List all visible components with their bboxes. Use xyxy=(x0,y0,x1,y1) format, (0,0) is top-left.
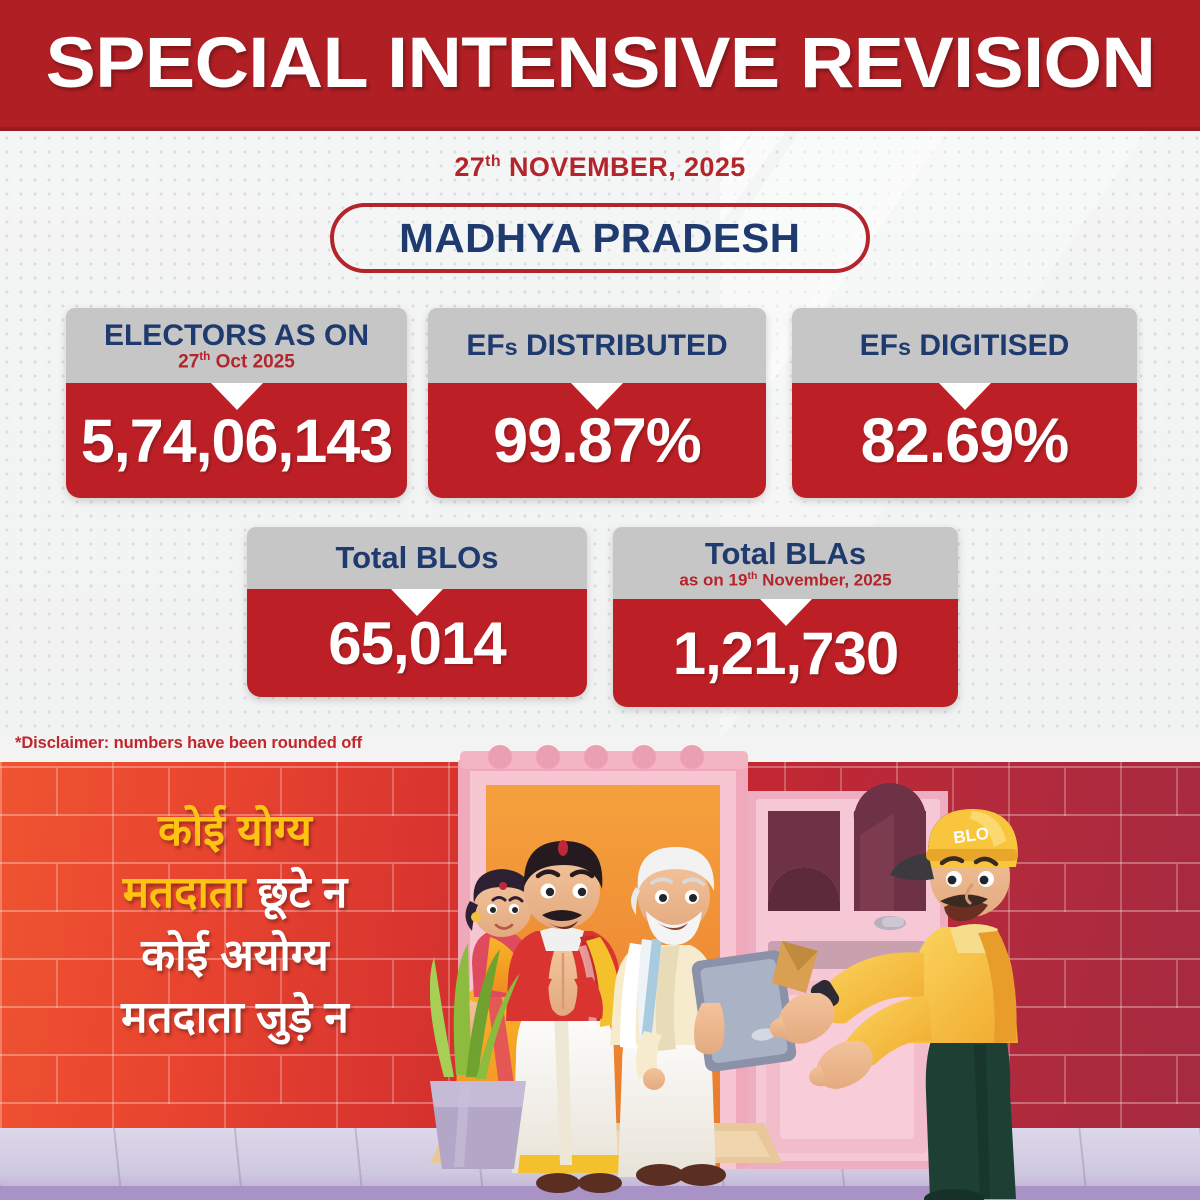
stat-card-efs-digitised-header: EFs DIGITISED xyxy=(792,308,1137,383)
slogan-line-2: मतदाता छूटे न xyxy=(0,862,470,924)
efs-digitised-rest: DIGITISED xyxy=(911,329,1069,362)
report-date-ordinal: th xyxy=(485,153,501,170)
stat-card-electors-header: ELECTORS AS ON 27th Oct 2025 xyxy=(66,308,407,383)
stat-card-efs-distributed: EFs DISTRIBUTED 99.87% xyxy=(428,308,766,498)
header-banner: SPECIAL INTENSIVE REVISION xyxy=(0,0,1200,131)
slogan-line-1: कोई योग्य xyxy=(0,800,470,862)
blas-subtitle-prefix: as on 19 xyxy=(679,570,747,589)
efs-distributed-rest: DISTRIBUTED xyxy=(518,329,728,362)
electors-subtitle-ordinal: th xyxy=(199,350,210,363)
blo-household-illustration: BLO xyxy=(430,745,1200,1200)
stat-card-total-blos: Total BLOs 65,014 xyxy=(247,527,587,697)
stat-card-electors-value: 5,74,06,143 xyxy=(81,406,392,476)
stat-card-electors-body: 5,74,06,143 xyxy=(66,383,407,498)
disclaimer-text: *Disclaimer: numbers have been rounded o… xyxy=(15,734,362,753)
report-date-day: 27 xyxy=(454,152,485,182)
stat-card-efs-digitised-title: EFs DIGITISED xyxy=(860,330,1070,362)
stat-card-total-blas-body: 1,21,730 xyxy=(613,599,958,707)
slogan-line-2-white: छूटे न xyxy=(258,868,348,917)
slogan-line-3: कोई अयोग्य xyxy=(0,925,470,987)
efs-distributed-s: s xyxy=(505,334,518,360)
stat-card-efs-digitised: EFs DIGITISED 82.69% xyxy=(792,308,1137,498)
electors-subtitle-day: 27 xyxy=(178,351,199,372)
report-date-month-year: NOVEMBER, 2025 xyxy=(501,152,746,182)
efs-distributed-lead: EF xyxy=(466,329,504,362)
state-badge: MADHYA PRADESH xyxy=(330,203,870,273)
stat-card-total-blos-body: 65,014 xyxy=(247,589,587,697)
stat-card-efs-distributed-title: EFs DISTRIBUTED xyxy=(466,330,727,362)
stat-card-efs-distributed-body: 99.87% xyxy=(428,383,766,498)
stat-card-total-blas-subtitle: as on 19th November, 2025 xyxy=(679,571,891,590)
page-title: SPECIAL INTENSIVE REVISION xyxy=(45,28,1155,103)
electors-subtitle-rest: Oct 2025 xyxy=(210,351,295,372)
report-date: 27th NOVEMBER, 2025 xyxy=(0,152,1200,183)
slogan-line-2-yellow: मतदाता xyxy=(123,868,258,917)
stat-card-electors-subtitle: 27th Oct 2025 xyxy=(178,351,295,373)
campaign-slogan: कोई योग्य मतदाता छूटे न कोई अयोग्य मतदात… xyxy=(0,800,470,1050)
stat-card-total-blos-value: 65,014 xyxy=(328,609,506,678)
state-name: MADHYA PRADESH xyxy=(399,215,800,262)
stat-card-total-blas-value: 1,21,730 xyxy=(673,619,899,688)
stat-card-electors-title: ELECTORS AS ON xyxy=(104,320,369,352)
stat-card-total-blos-title: Total BLOs xyxy=(335,542,498,575)
stat-card-electors: ELECTORS AS ON 27th Oct 2025 5,74,06,143 xyxy=(66,308,407,498)
stat-card-efs-distributed-header: EFs DISTRIBUTED xyxy=(428,308,766,383)
efs-digitised-s: s xyxy=(898,334,911,360)
stat-card-efs-digitised-value: 82.69% xyxy=(861,405,1069,477)
stat-card-total-blas: Total BLAs as on 19th November, 2025 1,2… xyxy=(613,527,958,707)
blas-subtitle-rest: November, 2025 xyxy=(757,570,891,589)
stat-card-efs-digitised-body: 82.69% xyxy=(792,383,1137,498)
illustration-svg: BLO xyxy=(430,745,1200,1200)
stat-card-efs-distributed-value: 99.87% xyxy=(493,405,701,477)
blas-subtitle-ordinal: th xyxy=(747,570,757,582)
stat-card-total-blas-title: Total BLAs xyxy=(705,538,866,571)
slogan-line-4: मतदाता जुड़े न xyxy=(0,987,470,1049)
stat-card-total-blas-header: Total BLAs as on 19th November, 2025 xyxy=(613,527,958,599)
infographic-poster: SPECIAL INTENSIVE REVISION 27th NOVEMBER… xyxy=(0,0,1200,1200)
efs-digitised-lead: EF xyxy=(860,329,898,362)
stat-card-total-blos-header: Total BLOs xyxy=(247,527,587,589)
